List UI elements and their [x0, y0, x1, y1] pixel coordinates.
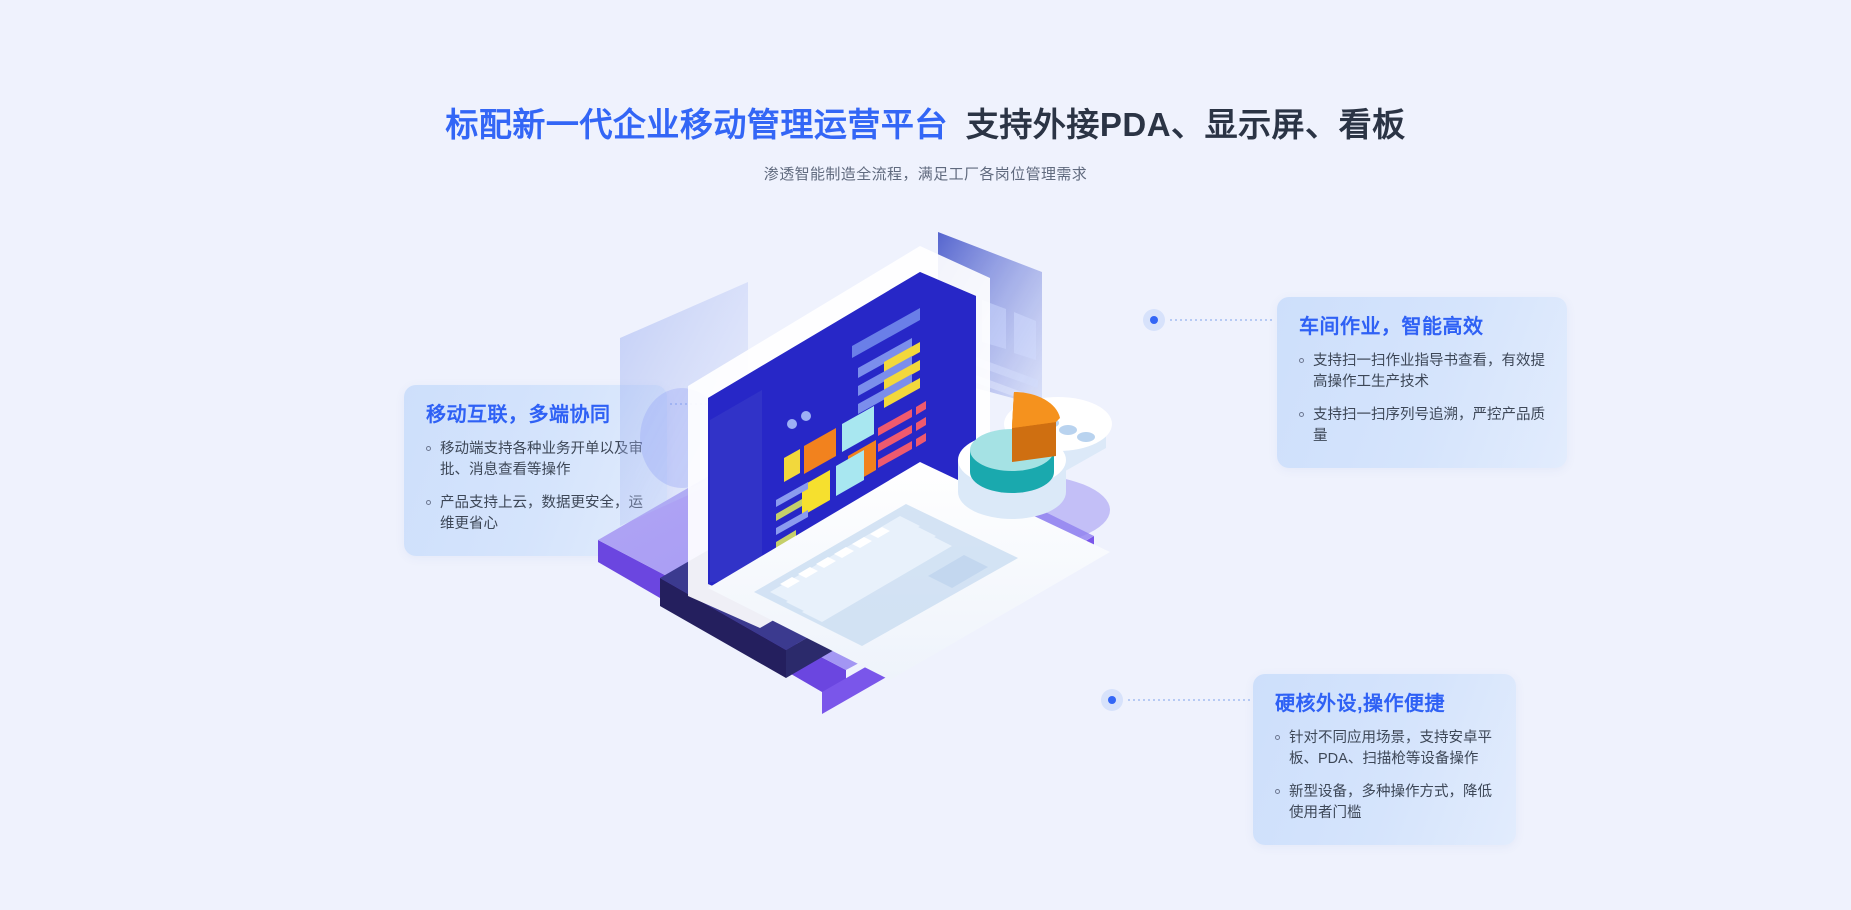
feature-card-title: 车间作业，智能高效	[1299, 315, 1545, 339]
page-title: 标配新一代企业移动管理运营平台支持外接PDA、显示屏、看板	[0, 108, 1851, 141]
hero-illustration: 工贸ERP	[590, 210, 1250, 770]
bullet-text: 新型设备，多种操作方式，降低使用者门槛	[1289, 784, 1492, 821]
page-subtitle: 渗透智能制造全流程，满足工厂各岗位管理需求	[0, 163, 1851, 184]
feature-card-hardware[interactable]: 硬核外设,操作便捷 针对不同应用场景，支持安卓平板、PDA、扫描枪等设备操作 新…	[1253, 674, 1516, 845]
bullet-text: 支持扫一扫作业指导书查看，有效提高操作工生产技术	[1313, 353, 1545, 390]
feature-bullet-list: 支持扫一扫作业指导书查看，有效提高操作工生产技术 支持扫一扫序列号追溯，严控产品…	[1299, 351, 1545, 448]
feature-bullet-list: 针对不同应用场景，支持安卓平板、PDA、扫描枪等设备操作 新型设备，多种操作方式…	[1275, 728, 1494, 825]
list-item: 新型设备，多种操作方式，降低使用者门槛	[1275, 782, 1494, 825]
list-item: 支持扫一扫序列号追溯，严控产品质量	[1299, 405, 1545, 448]
page-title-accent: 标配新一代企业移动管理运营平台	[445, 106, 948, 143]
bullet-circle-icon	[1275, 735, 1280, 740]
bullet-text: 针对不同应用场景，支持安卓平板、PDA、扫描枪等设备操作	[1289, 730, 1492, 767]
feature-card-workshop[interactable]: 车间作业，智能高效 支持扫一扫作业指导书查看，有效提高操作工生产技术 支持扫一扫…	[1277, 297, 1567, 468]
bullet-circle-icon	[1299, 358, 1304, 363]
bullet-circle-icon	[1299, 412, 1304, 417]
page-root: 标配新一代企业移动管理运营平台支持外接PDA、显示屏、看板 渗透智能制造全流程，…	[0, 0, 1851, 910]
bullet-circle-icon	[1275, 789, 1280, 794]
list-item: 针对不同应用场景，支持安卓平板、PDA、扫描枪等设备操作	[1275, 728, 1494, 771]
bullet-circle-icon	[426, 446, 431, 451]
window-dot	[801, 411, 811, 421]
feature-card-title: 硬核外设,操作便捷	[1275, 692, 1494, 716]
window-dot	[787, 419, 797, 429]
page-title-rest: 支持外接PDA、显示屏、看板	[966, 106, 1406, 143]
list-item: 支持扫一扫作业指导书查看，有效提高操作工生产技术	[1299, 351, 1545, 394]
ui-sidebar	[710, 390, 762, 582]
page-header: 标配新一代企业移动管理运营平台支持外接PDA、显示屏、看板 渗透智能制造全流程，…	[0, 0, 1851, 184]
bullet-text: 支持扫一扫序列号追溯，严控产品质量	[1313, 407, 1545, 444]
bullet-circle-icon	[426, 500, 431, 505]
